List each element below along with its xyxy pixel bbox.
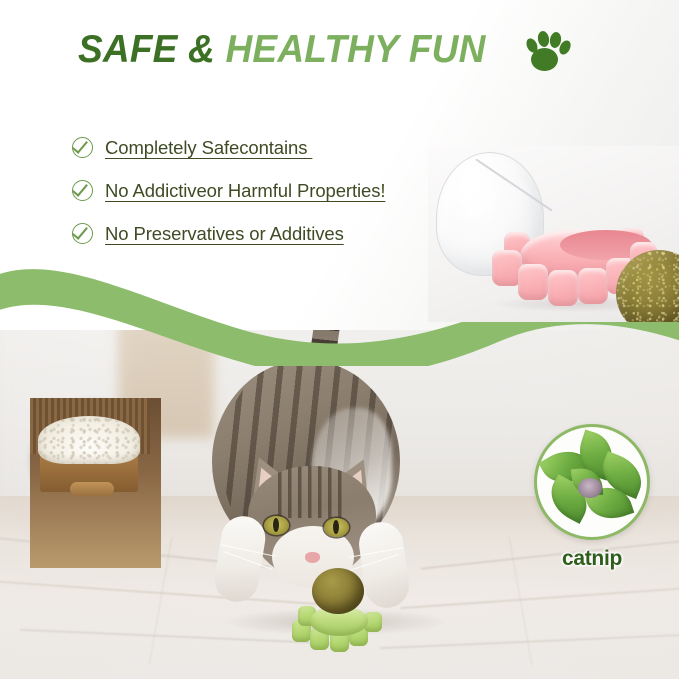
base-petal [518, 264, 548, 300]
feature-label: Completely Safecontains [105, 137, 312, 159]
feature-label: No Addictiveor Harmful Properties! [105, 180, 385, 202]
product-marketing-poster: SAFE & HEALTHY FUN Completely Safecontai… [0, 0, 679, 679]
cat-pupil-right [333, 520, 339, 534]
ingredient-inset-rice-flour: glutinous rice flour [30, 398, 161, 568]
cat-front-paw-left [212, 513, 269, 605]
feature-list: Completely Safecontains No Addictiveor H… [72, 126, 385, 255]
base-petal [578, 268, 608, 304]
headline-part-2: HEALTHY FUN [225, 28, 485, 71]
list-item: Completely Safecontains [72, 126, 385, 169]
feature-label: No Preservatives or Additives [105, 223, 344, 245]
check-circle-icon [72, 137, 93, 158]
box-handle [70, 482, 114, 496]
inset-image-circle [30, 398, 150, 518]
cat-nose [305, 552, 320, 563]
check-circle-icon [72, 180, 93, 201]
pink-flower-base [490, 226, 660, 312]
green-catnip-toy [290, 592, 386, 656]
page-title: SAFE & HEALTHY FUN [78, 26, 569, 72]
base-petal [548, 270, 578, 306]
inset-image-circle [534, 424, 650, 540]
product-catnip-ball [616, 250, 679, 322]
dome-highlight [453, 165, 503, 229]
toy-catnip-ball [312, 568, 364, 614]
catnip-bloom [578, 478, 602, 498]
headline-part-1: SAFE & [78, 28, 225, 71]
check-circle-icon [72, 223, 93, 244]
rice-flour-photo [30, 398, 150, 518]
rice-pile [38, 416, 140, 464]
product-photo-pink-catnip-toy [428, 146, 679, 322]
list-item: No Addictiveor Harmful Properties! [72, 169, 385, 212]
cat-pupil-left [273, 518, 279, 532]
ingredient-inset-catnip: catnip [534, 424, 650, 571]
catnip-plant-photo [534, 424, 650, 540]
paw-print-icon [525, 28, 569, 72]
list-item: No Preservatives or Additives [72, 212, 385, 255]
